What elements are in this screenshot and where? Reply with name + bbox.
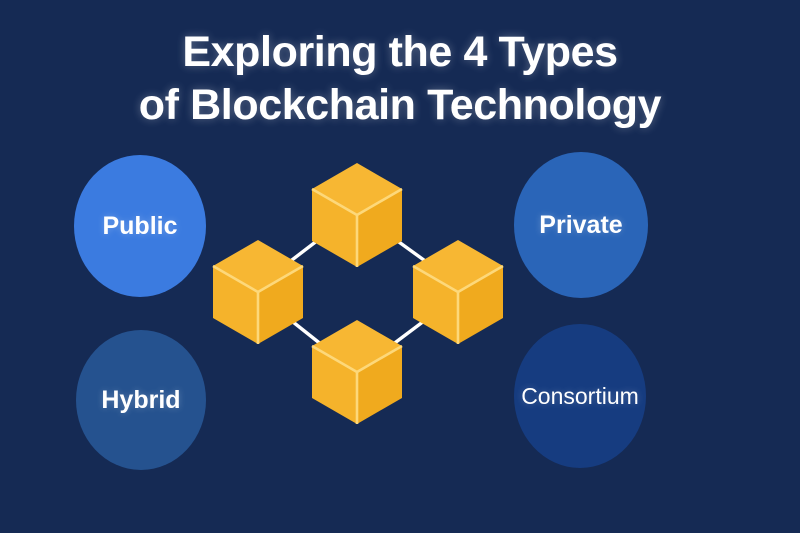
cube-node-right [413,240,503,344]
category-circle-private[interactable]: Private [514,152,648,298]
category-circle-public[interactable]: Public [74,155,206,297]
category-circle-hybrid[interactable]: Hybrid [76,330,206,470]
category-label-consortium: Consortium [521,384,639,409]
category-label-public: Public [102,214,177,239]
cube-node-bottom [312,320,402,424]
category-label-private: Private [539,213,622,238]
infographic-canvas: Exploring the 4 Types of Blockchain Tech… [0,0,800,533]
category-circle-consortium[interactable]: Consortium [514,324,646,468]
cube-node-left [213,240,303,344]
category-label-hybrid: Hybrid [101,388,180,413]
cube-node-top [312,163,402,267]
